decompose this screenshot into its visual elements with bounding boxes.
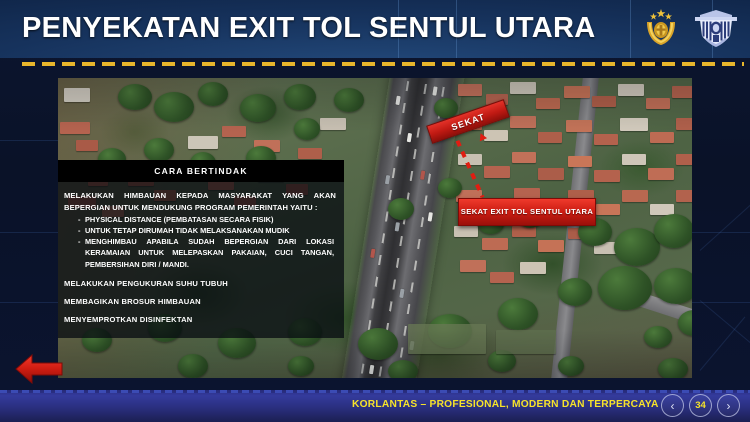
info-panel-point: MENYEMPROTKAN DISINFEKTAN [64, 315, 336, 324]
page-title: PENYEKATAN EXIT TOL SENTUL UTARA [22, 12, 596, 45]
map-marker-sekat-exit-label: SEKAT EXIT TOL SENTUL UTARA [461, 207, 593, 217]
logo-group [640, 6, 740, 48]
footer-tagline: KORLANTAS – PROFESIONAL, MODERN DAN TERP… [352, 399, 659, 410]
info-panel-header: CARA BERTINDAK [58, 160, 344, 182]
info-panel-body: MELAKUKAN HIMBAUAN KEPADA MASYARAKAT YAN… [58, 182, 344, 338]
footer-navigation: ‹ 34 › [661, 394, 740, 417]
korlantas-emblem-logo [692, 6, 740, 48]
list-item: PHYSICAL DISTANCE (PEMBATASAN SECARA FIS… [78, 214, 334, 225]
gold-dashed-divider [0, 59, 750, 68]
list-item: MENGHIMBAU APABILA SUDAH BEPERGIAN DARI … [78, 236, 334, 269]
next-slide-button[interactable]: › [717, 394, 740, 417]
map-marker-sekat-exit: SEKAT EXIT TOL SENTUL UTARA [458, 198, 596, 226]
info-panel-lead-text: MELAKUKAN HIMBAUAN KEPADA MASYARAKAT YAN… [64, 190, 336, 213]
slide-number-badge[interactable]: 34 [689, 394, 712, 417]
info-panel: CARA BERTINDAK MELAKUKAN HIMBAUAN KEPADA… [58, 160, 344, 338]
polri-emblem-logo [640, 6, 682, 48]
info-panel-title: CARA BERTINDAK [154, 166, 247, 176]
prev-slide-button[interactable]: ‹ [661, 394, 684, 417]
back-arrow-icon[interactable] [14, 352, 64, 386]
slide-header: PENYEKATAN EXIT TOL SENTUL UTARA [0, 0, 750, 58]
list-item: UNTUK TETAP DIRUMAH TIDAK MELAKSANAKAN M… [78, 225, 334, 236]
info-panel-bullet-list: PHYSICAL DISTANCE (PEMBATASAN SECARA FIS… [64, 214, 336, 270]
footer-dashed-border [0, 390, 750, 393]
presentation-slide: PENYEKATAN EXIT TOL SENTUL UTARA [0, 0, 750, 422]
info-panel-point: MELAKUKAN PENGUKURAN SUHU TUBUH [64, 279, 336, 288]
info-panel-point: MEMBAGIKAN BROSUR HIMBAUAN [64, 297, 336, 306]
slide-footer: KORLANTAS – PROFESIONAL, MODERN DAN TERP… [0, 390, 750, 422]
